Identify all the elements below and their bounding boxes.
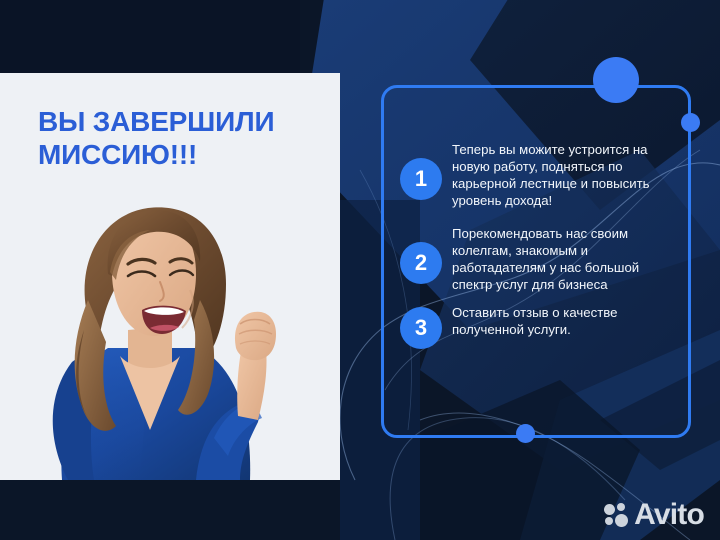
step-number-badge: 2 xyxy=(400,242,442,284)
frame-dot-bottom xyxy=(516,424,535,443)
list-item: 2 Порекомендовать нас своим колелгам, зн… xyxy=(400,224,680,294)
steps-list: 1 Теперь вы можите устроится на новую ра… xyxy=(400,140,680,361)
frame-dot-top xyxy=(593,57,639,103)
slide-canvas: ВЫ ЗАВЕРШИЛИ МИССИЮ!!! xyxy=(0,0,720,540)
avito-wordmark: Avito xyxy=(634,500,704,530)
promo-card: ВЫ ЗАВЕРШИЛИ МИССИЮ!!! xyxy=(0,73,340,480)
avito-dot-top-right xyxy=(617,503,625,511)
step-text: Теперь вы можите устроится на новую рабо… xyxy=(452,140,680,210)
list-item: 3 Оставить отзыв о качестве полученной у… xyxy=(400,303,680,349)
list-item: 1 Теперь вы можите устроится на новую ра… xyxy=(400,140,680,210)
celebrating-woman-photo xyxy=(0,180,340,480)
step-number-badge: 3 xyxy=(400,307,442,349)
step-text: Порекомендовать нас своим колелгам, знак… xyxy=(452,224,680,294)
page-title: ВЫ ЗАВЕРШИЛИ МИССИЮ!!! xyxy=(38,105,328,171)
avito-logo: Avito xyxy=(604,500,704,530)
woman-illustration-svg xyxy=(0,180,340,480)
step-text: Оставить отзыв о качестве полученной усл… xyxy=(452,303,680,338)
avito-dot-small xyxy=(605,517,613,525)
step-number-badge: 1 xyxy=(400,158,442,200)
frame-dot-right xyxy=(681,113,700,132)
avito-dots-icon xyxy=(604,503,630,527)
avito-dot-bottom-right xyxy=(615,514,628,527)
avito-dot-large xyxy=(604,504,615,515)
